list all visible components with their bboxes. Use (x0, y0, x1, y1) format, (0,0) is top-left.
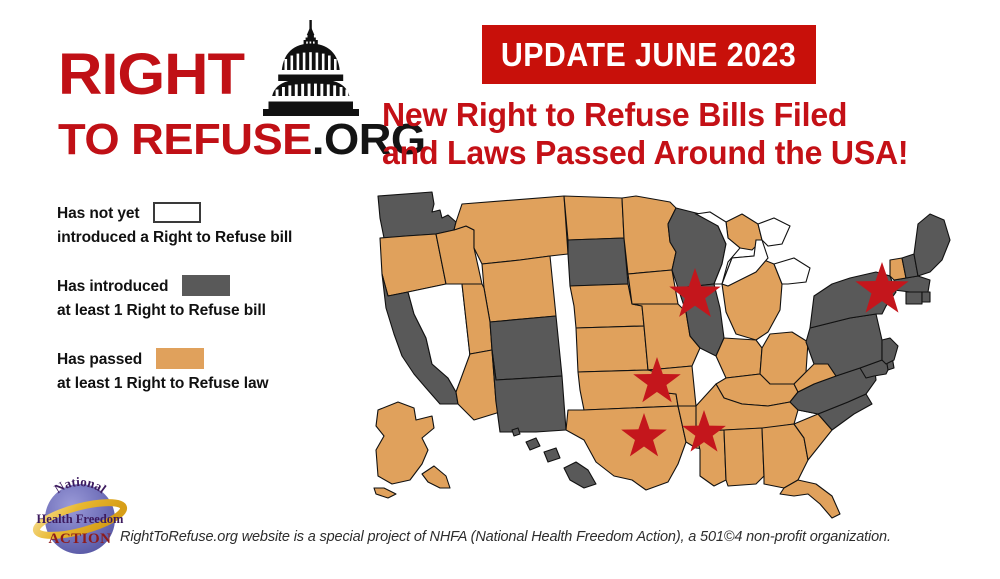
nhfa-text-health-freedom: Health Freedom (37, 512, 124, 526)
headline-line-1: New Right to Refuse Bills Filed (382, 96, 954, 134)
state-ri[interactable]: Rhode Island (922, 292, 930, 302)
state-wa[interactable]: Washington (378, 192, 456, 238)
legend-swatch-gray (182, 275, 230, 296)
legend-swatch-white (153, 202, 201, 223)
legend-item-not-introduced: Has not yet introduced a Right to Refuse… (57, 203, 377, 249)
nhfa-logo[interactable]: National Health Freedom ACTION (32, 474, 128, 568)
state-ak[interactable]: Alaska (374, 402, 450, 498)
legend-label-line2: introduced a Right to Refuse bill (57, 227, 377, 249)
legend-item-introduced: Has introduced at least 1 Right to Refus… (57, 276, 377, 322)
legend-item-passed: Has passed at least 1 Right to Refuse la… (57, 349, 377, 395)
usa-choropleth-map: WashingtonOregonCaliforniaNevadaIdahoMon… (370, 188, 992, 520)
state-co[interactable]: Colorado (490, 316, 562, 380)
footer-disclaimer: RightToRefuse.org website is a special p… (120, 529, 980, 545)
legend-label-line1: Has passed (57, 349, 142, 371)
state-sd[interactable]: South Dakota (568, 238, 628, 286)
state-nd[interactable]: North Dakota (564, 196, 624, 240)
legend-label-line2: at least 1 Right to Refuse bill (57, 300, 377, 322)
state-fl[interactable]: Florida (780, 480, 840, 518)
update-banner-label: UPDATE JUNE 2023 (501, 36, 796, 74)
state-mn[interactable]: Minnesota (622, 196, 676, 274)
headline-line-2: and Laws Passed Around the USA! (382, 134, 954, 172)
state-ks[interactable]: Kansas (576, 326, 648, 372)
state-ct[interactable]: Connecticut (906, 292, 922, 304)
legend-item-row: Has passed (57, 349, 377, 373)
state-al[interactable]: Alabama (724, 428, 764, 486)
legend-item-row: Has not yet (57, 203, 377, 227)
map-legend: Has not yet introduced a Right to Refuse… (57, 203, 377, 422)
site-logo[interactable]: RIGHT TO REFUSE.ORG (58, 18, 358, 173)
logo-word-right: RIGHT (58, 46, 244, 104)
state-nj[interactable]: New Jersey (882, 338, 898, 364)
nhfa-text-action: ACTION (48, 531, 111, 547)
legend-swatch-orange (156, 348, 204, 369)
state-wy[interactable]: Wyoming (482, 256, 556, 322)
legend-label-line2: at least 1 Right to Refuse law (57, 373, 377, 395)
capitol-dome-icon (257, 18, 365, 126)
state-oh[interactable]: Ohio (760, 332, 808, 384)
update-banner: UPDATE JUNE 2023 (482, 25, 816, 84)
page-title: New Right to Refuse Bills Filed and Laws… (382, 96, 972, 173)
legend-label-line1: Has not yet (57, 203, 139, 225)
usa-map-svg: WashingtonOregonCaliforniaNevadaIdahoMon… (370, 188, 992, 520)
state-me[interactable]: Maine (914, 214, 950, 276)
right-to-refuse-infographic: RIGHT TO REFUSE.ORG (0, 0, 1000, 579)
legend-item-row: Has introduced (57, 276, 377, 300)
states-layer: WashingtonOregonCaliforniaNevadaIdahoMon… (374, 192, 950, 518)
legend-label-line1: Has introduced (57, 276, 168, 298)
logo-word-torefuse-org: TO REFUSE.ORG (58, 118, 426, 162)
state-in[interactable]: Indiana (716, 338, 762, 378)
